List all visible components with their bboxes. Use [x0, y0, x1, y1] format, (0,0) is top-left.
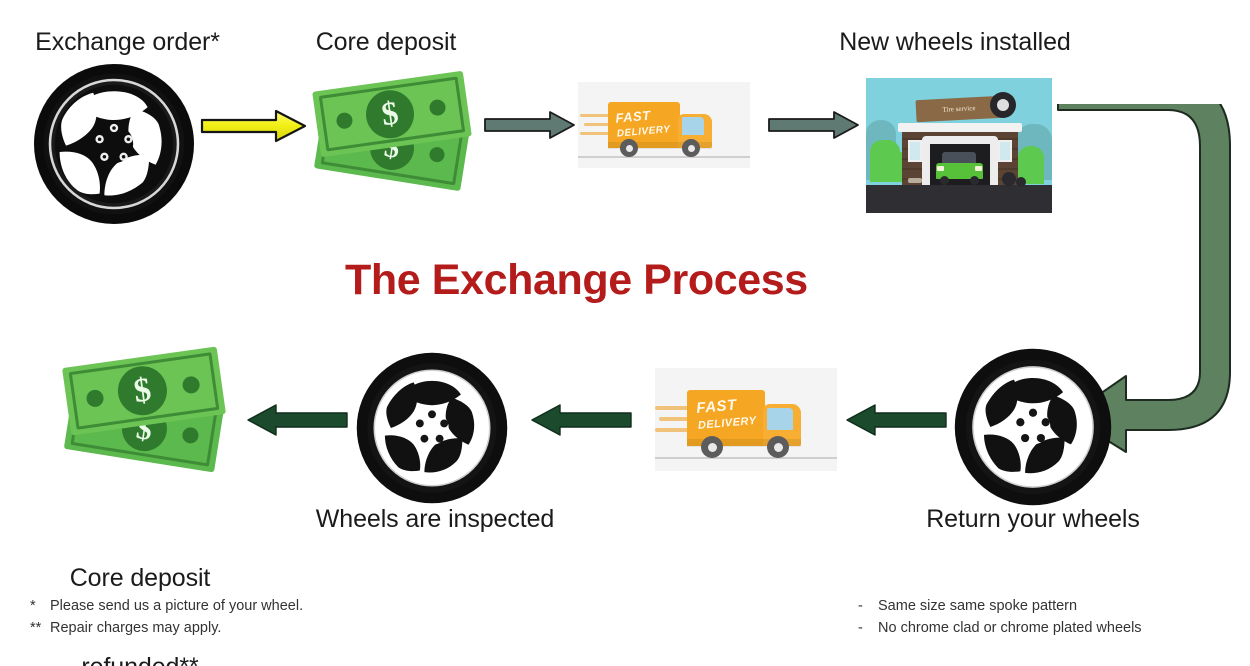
footnotes-right: -Same size same spoke pattern -No chrome… — [858, 595, 1142, 640]
step-label-deposit-refunded: Core deposit refunded** — [30, 505, 250, 666]
footnote-right-2-text: No chrome clad or chrome plated wheels — [878, 620, 1142, 636]
white-alloy-wheel-icon-inspected — [356, 352, 508, 509]
tire-service-shop-icon: Tire service — [866, 78, 1052, 213]
tire-service-sign: Tire service — [915, 96, 1002, 122]
footnote-right-1: -Same size same spoke pattern — [858, 595, 1142, 617]
step-label-exchange-order: Exchange order* — [10, 28, 245, 58]
footnote-left-1-marker: * — [30, 595, 50, 617]
dollar-bills-icon: $ $ — [312, 78, 472, 198]
truck-text-line1-bottom: FAST — [696, 397, 738, 417]
deposit-refunded-line1: Core deposit — [30, 564, 250, 594]
step-label-core-deposit: Core deposit — [286, 28, 486, 58]
dark-green-arrow-left-icon-3 — [845, 402, 947, 438]
footnote-left-2-text: Repair charges may apply. — [50, 620, 221, 636]
footnote-left-2: **Repair charges may apply. — [30, 617, 303, 639]
footnote-left-1-text: Please send us a picture of your wheel. — [50, 598, 303, 614]
slate-green-arrow-right-icon-1 — [484, 110, 576, 140]
footnote-right-2-marker: - — [858, 617, 878, 639]
truck-text-line1: FAST — [615, 108, 651, 126]
white-alloy-wheel-icon-return — [954, 348, 1112, 511]
exchange-process-diagram: Exchange order* — [0, 0, 1250, 666]
dark-green-arrow-left-icon-1 — [246, 402, 348, 438]
step-label-new-wheels-installed: New wheels installed — [795, 28, 1115, 58]
sign-tire-icon — [990, 92, 1016, 118]
step-label-return-wheels: Return your wheels — [893, 505, 1173, 535]
deposit-refunded-line2: refunded** — [30, 653, 250, 666]
yellow-arrow-right-icon — [200, 108, 308, 144]
dark-green-arrow-left-icon-2 — [530, 402, 632, 438]
slate-green-arrow-right-icon-2 — [768, 110, 860, 140]
footnote-left-2-marker: ** — [30, 617, 50, 639]
page-title: The Exchange Process — [345, 256, 808, 305]
footnote-left-1: *Please send us a picture of your wheel. — [30, 595, 303, 617]
black-alloy-wheel-icon — [34, 64, 194, 229]
step-label-wheels-inspected: Wheels are inspected — [295, 505, 575, 535]
footnotes-left: *Please send us a picture of your wheel.… — [30, 595, 303, 640]
fast-delivery-truck-icon-top: FAST DELIVERY — [578, 82, 750, 168]
dollar-bills-icon-refund: $ $ — [62, 355, 227, 480]
footnote-right-2: -No chrome clad or chrome plated wheels — [858, 617, 1142, 639]
fast-delivery-truck-icon-bottom: FAST DELIVERY — [655, 368, 837, 471]
footnote-right-1-marker: - — [858, 595, 878, 617]
footnote-right-1-text: Same size same spoke pattern — [878, 598, 1077, 614]
